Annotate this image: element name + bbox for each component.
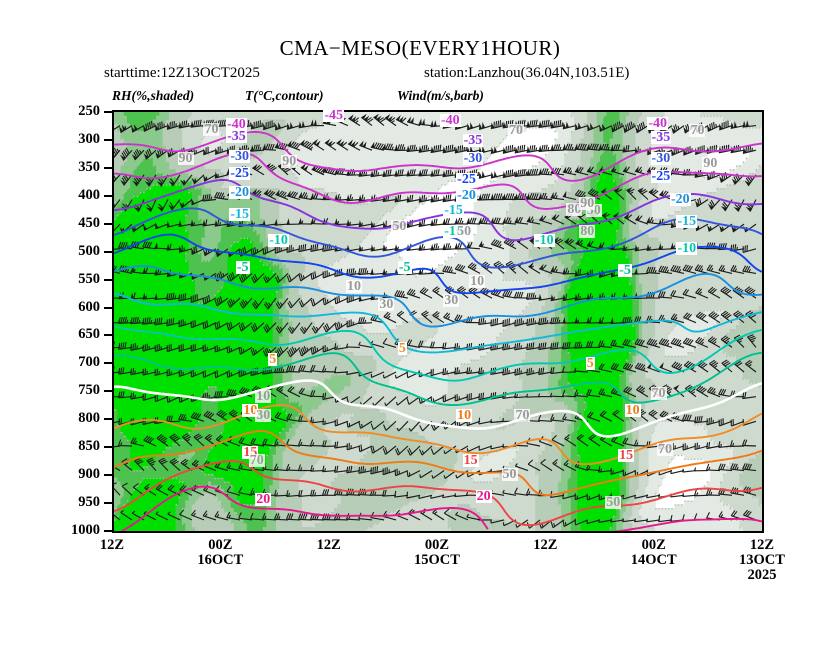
temp-contour-label: 5	[268, 353, 277, 366]
rh-contour-label: 90	[702, 157, 718, 170]
temp-contour-label: 5	[398, 342, 407, 355]
y-axis-tick	[104, 530, 112, 532]
temp-contour-label: -30	[463, 152, 484, 165]
temp-contour-label: 15	[463, 454, 479, 467]
y-axis-label: 550	[44, 271, 100, 288]
temp-contour-label: -10	[268, 234, 289, 247]
y-axis-tick	[104, 167, 112, 169]
y-axis-label: 600	[44, 299, 100, 316]
y-axis-tick	[104, 251, 112, 253]
temp-contour-label: -15	[676, 215, 697, 228]
temp-contour-label: -30	[651, 152, 672, 165]
rh-contour-label: 70	[514, 409, 530, 422]
y-axis-tick	[104, 362, 112, 364]
y-axis-tick	[104, 279, 112, 281]
rh-contour-label: 70	[203, 123, 219, 136]
y-axis-label: 900	[44, 466, 100, 483]
legend: RH(%,shaded) T(°C,contour) Wind(m/s,barb…	[112, 88, 592, 106]
x-axis-label: 12Z	[72, 538, 152, 553]
y-axis-label: 1000	[44, 522, 100, 539]
rh-contour-label: 50	[502, 468, 518, 481]
y-axis-label: 250	[44, 103, 100, 120]
temp-contour-label: 5	[586, 357, 595, 370]
temp-contour-label: -30	[229, 150, 250, 163]
temp-contour-label: -35	[226, 130, 247, 143]
y-axis-tick	[104, 474, 112, 476]
y-axis-label: 400	[44, 187, 100, 204]
temp-contour-label: 15	[618, 449, 634, 462]
temp-contour-label: 10	[625, 404, 641, 417]
rh-contour-label: 30	[443, 294, 459, 307]
rh-contour-label: 90	[178, 152, 194, 165]
temp-contour-label: 20	[476, 490, 492, 503]
page-title: CMA−MESO(EVERY1HOUR)	[0, 36, 840, 61]
rh-contour-label: 50	[456, 225, 472, 238]
rh-contour-label: 70	[689, 124, 705, 137]
temp-contour-label: -40	[647, 117, 668, 130]
y-axis-tick	[104, 334, 112, 336]
y-axis-tick	[104, 446, 112, 448]
rh-contour-label: 90	[579, 197, 595, 210]
y-axis-label: 500	[44, 243, 100, 260]
station-label: station:Lanzhou(36.04N,103.51E)	[424, 65, 629, 82]
temp-contour-label: 10	[456, 409, 472, 422]
y-axis-label: 750	[44, 382, 100, 399]
rh-contour-label: 30	[378, 298, 394, 311]
temp-contour-label: -15	[229, 208, 250, 221]
y-axis-label: 800	[44, 410, 100, 427]
temp-contour-label: -25	[229, 167, 250, 180]
temp-contour-label: -20	[670, 193, 691, 206]
temp-contour-label: -5	[236, 261, 250, 274]
y-axis-tick	[104, 223, 112, 225]
temp-contour-label: -10	[534, 234, 555, 247]
legend-item-rh: RH(%,shaded)	[112, 88, 194, 104]
rh-contour-label: 30	[255, 409, 271, 422]
y-axis-tick	[104, 502, 112, 504]
temp-contour-label: -35	[651, 131, 672, 144]
temp-contour-label: 20	[255, 493, 271, 506]
rh-contour-label: 90	[281, 155, 297, 168]
x-axis-label: 00Z14OCT	[614, 538, 694, 568]
y-axis-tick	[104, 195, 112, 197]
y-axis-label: 650	[44, 326, 100, 343]
rh-contour-label: 10	[346, 280, 362, 293]
temp-contour-label: -35	[463, 134, 484, 147]
y-axis-label: 350	[44, 159, 100, 176]
rh-contour-label: 70	[249, 454, 265, 467]
temp-contour-label: -45	[323, 109, 344, 122]
temp-contour-label: -5	[398, 261, 412, 274]
y-axis-tick	[104, 418, 112, 420]
temp-contour-label: -5	[618, 264, 632, 277]
rh-contour-label: 70	[657, 443, 673, 456]
temp-contour-label: -20	[456, 189, 477, 202]
y-axis-label: 450	[44, 215, 100, 232]
y-axis-label: 950	[44, 494, 100, 511]
y-axis-label: 700	[44, 354, 100, 371]
x-axis-label: 12Z13OCT2025	[722, 538, 802, 583]
rh-contour-label: 50	[391, 220, 407, 233]
x-axis-label: 12Z	[505, 538, 585, 553]
rh-contour-label: 70	[651, 387, 667, 400]
rh-contour-label: 80	[579, 225, 595, 238]
temp-contour-label: -10	[676, 242, 697, 255]
y-axis-tick	[104, 307, 112, 309]
legend-item-wind: Wind(m/s,barb)	[397, 88, 484, 104]
legend-item-temp: T(°C,contour)	[245, 88, 324, 104]
starttime-label: starttime:12Z13OCT2025	[104, 65, 260, 82]
rh-contour-label: 10	[469, 275, 485, 288]
x-axis-label: 00Z16OCT	[180, 538, 260, 568]
y-axis-tick	[104, 139, 112, 141]
y-axis-tick	[104, 111, 112, 113]
temp-contour-label: -15	[443, 204, 464, 217]
x-axis-label: 12Z	[289, 538, 369, 553]
y-axis-tick	[104, 390, 112, 392]
temp-contour-label: -20	[229, 186, 250, 199]
y-axis-label: 300	[44, 131, 100, 148]
rh-contour-label: 10	[255, 390, 271, 403]
temp-contour-label: -40	[440, 114, 461, 127]
x-axis-label: 00Z15OCT	[397, 538, 477, 568]
rh-contour-label: 50	[605, 496, 621, 509]
temp-contour-label: -25	[456, 173, 477, 186]
y-axis-label: 850	[44, 438, 100, 455]
temp-contour-label: -25	[651, 170, 672, 183]
rh-contour-label: 70	[508, 124, 524, 137]
